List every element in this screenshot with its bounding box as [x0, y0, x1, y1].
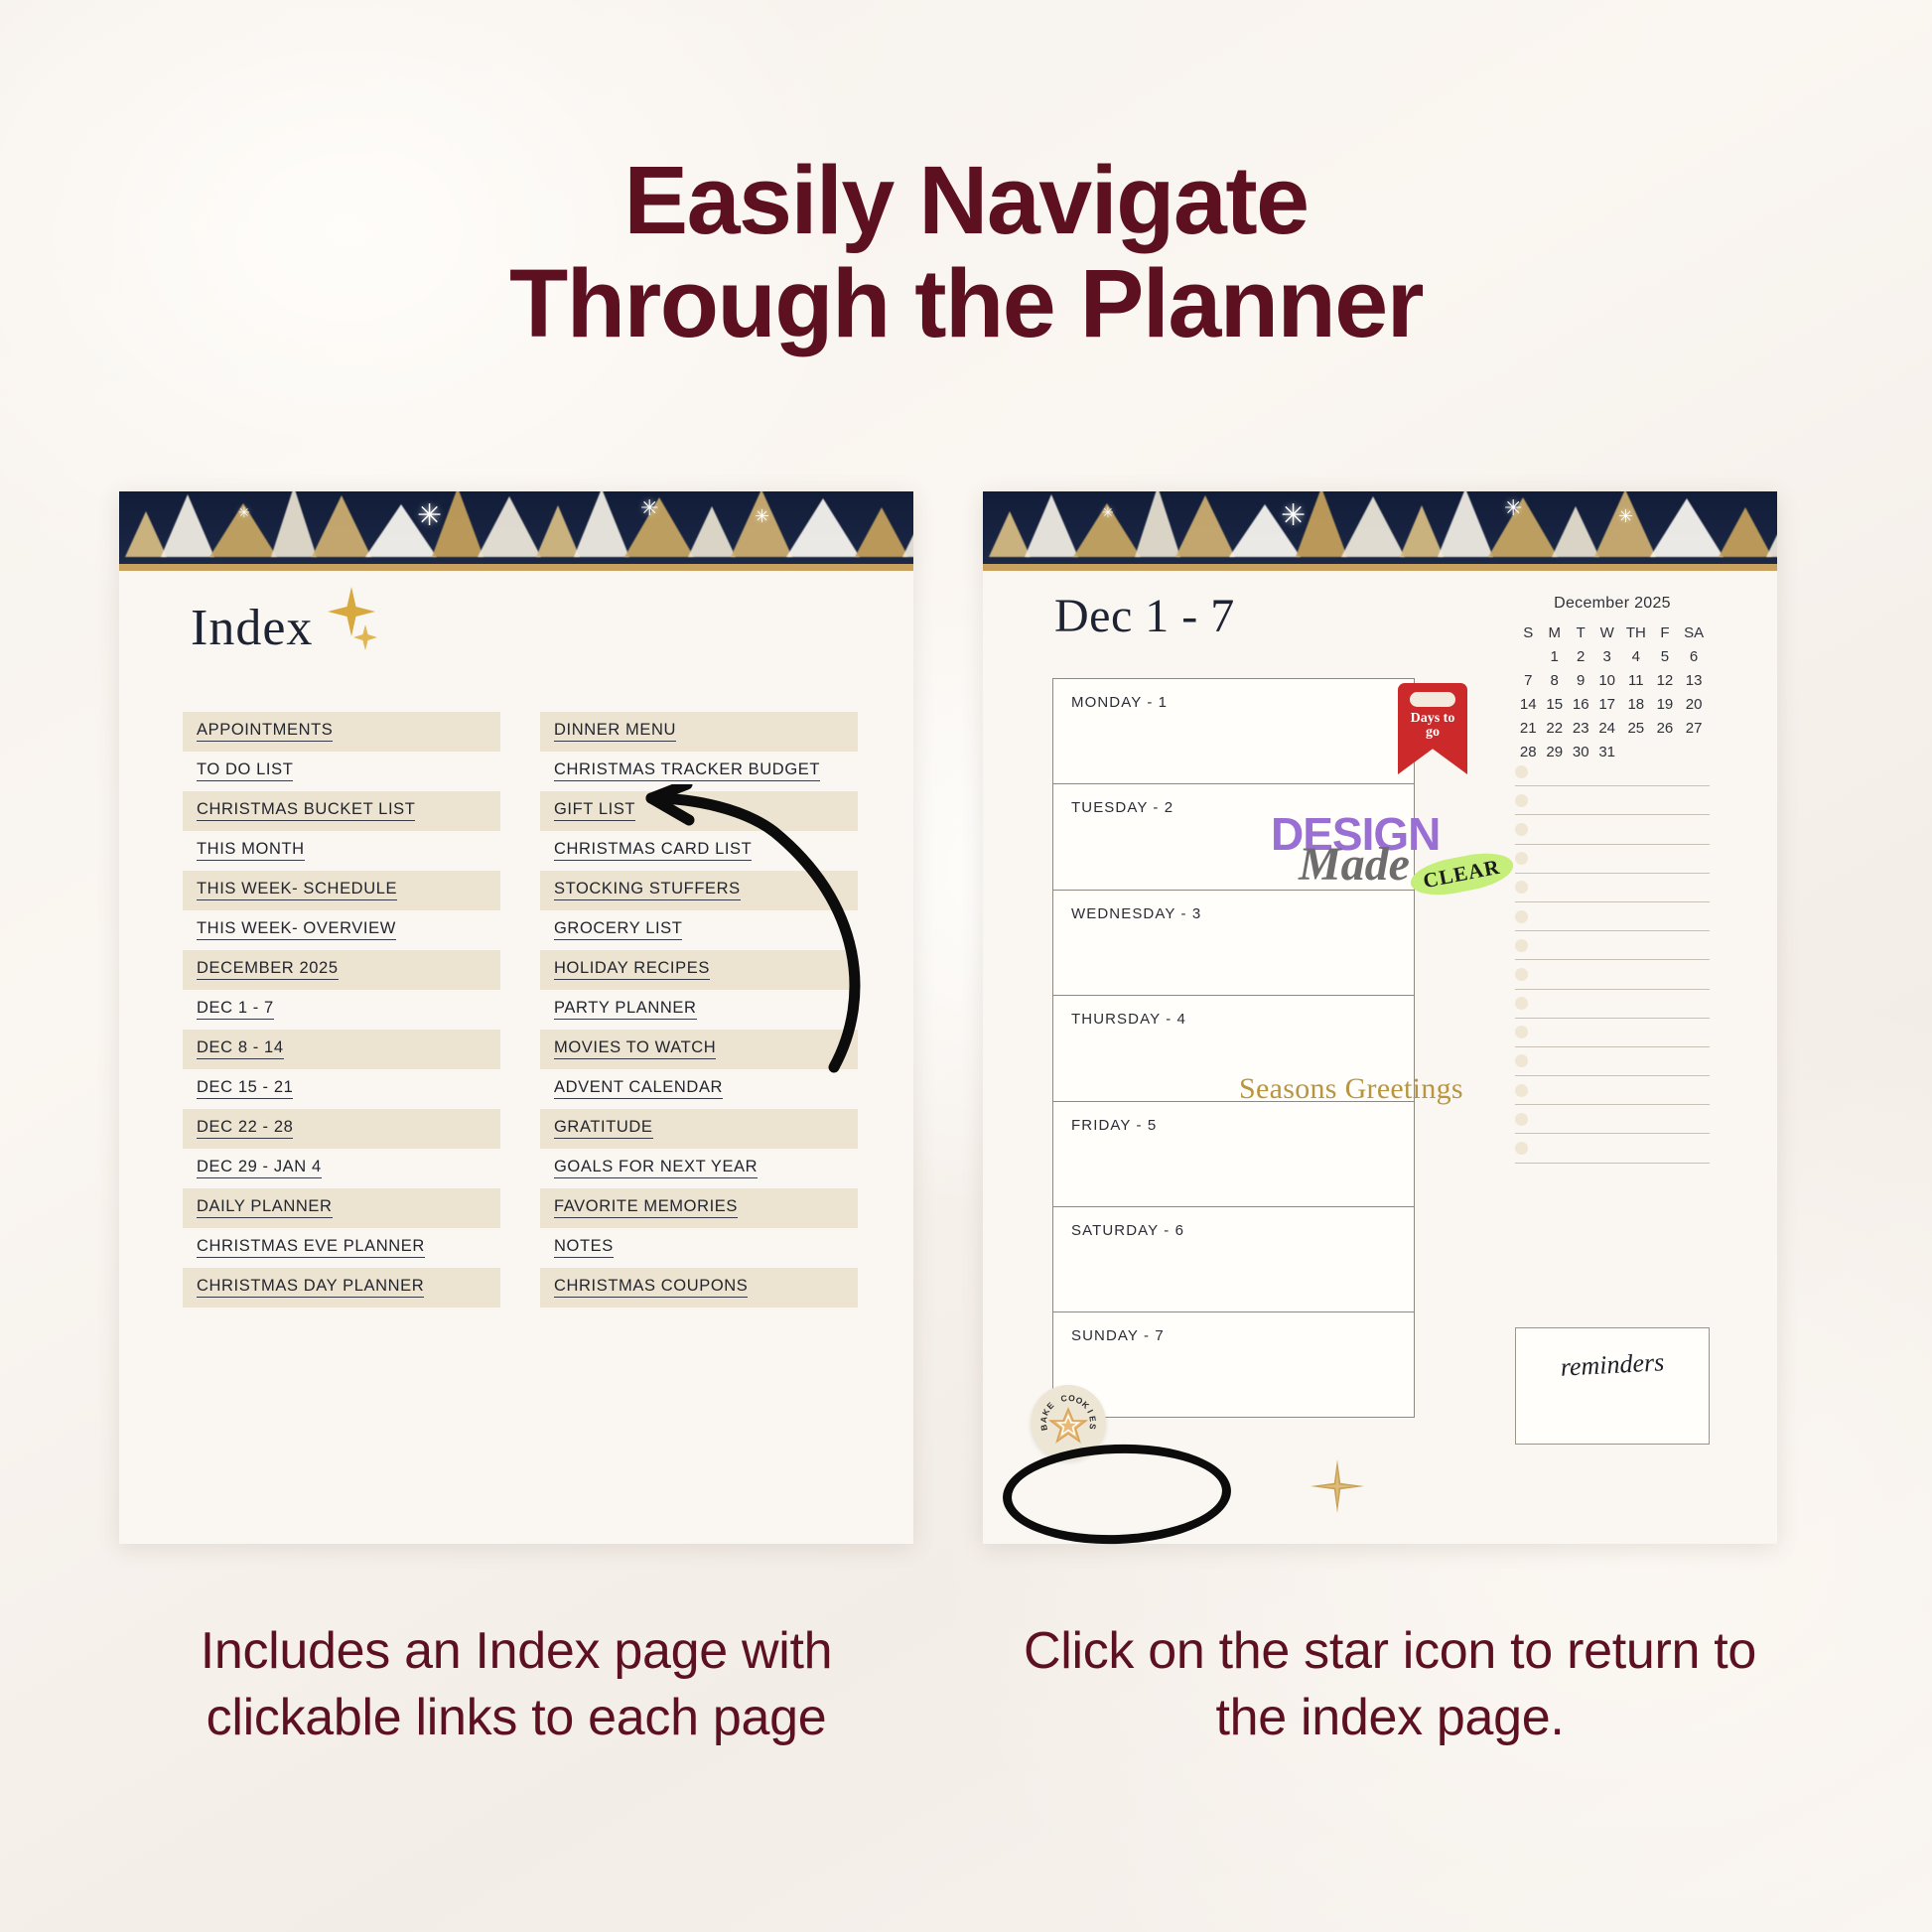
checklist-bullet-icon[interactable]	[1515, 794, 1528, 807]
index-link-item[interactable]: FAVORITE MEMORIES	[540, 1188, 858, 1228]
day-blocks[interactable]: MONDAY - 1TUESDAY - 2WEDNESDAY - 3THURSD…	[1052, 678, 1415, 1418]
mini-calendar-day[interactable]: 25	[1620, 716, 1652, 740]
mini-calendar-day[interactable]: 18	[1620, 692, 1652, 716]
reminders-box[interactable]: reminders	[1515, 1327, 1710, 1445]
index-link-label: THIS MONTH	[197, 841, 305, 861]
mini-calendar-day[interactable]: 14	[1515, 692, 1541, 716]
index-link-item[interactable]: GRATITUDE	[540, 1109, 858, 1149]
mini-calendar-day[interactable]: 5	[1652, 644, 1678, 668]
checklist-row[interactable]	[1515, 990, 1710, 1019]
headline-line-2: Through the Planner	[0, 252, 1932, 355]
index-link-item[interactable]: CHRISTMAS EVE PLANNER	[183, 1228, 500, 1268]
mini-calendar-table: SMTWTHFSA 123456789101112131415161718192…	[1515, 621, 1710, 763]
mini-calendar-week-row: 78910111213	[1515, 668, 1710, 692]
checklist-row[interactable]	[1515, 1047, 1710, 1076]
day-block[interactable]: SATURDAY - 6	[1053, 1207, 1414, 1312]
checklist-bullet-icon[interactable]	[1515, 968, 1528, 981]
christmas-tree-icon	[786, 498, 860, 557]
mini-calendar-day[interactable]: 3	[1593, 644, 1619, 668]
checklist-bullet-icon[interactable]	[1515, 852, 1528, 865]
days-to-go-ribbon: Days to go	[1398, 683, 1467, 774]
index-title-row: Index	[191, 599, 380, 657]
mini-calendar-header-row: SMTWTHFSA	[1515, 621, 1710, 644]
christmas-tree-icon	[161, 494, 214, 557]
day-block[interactable]: MONDAY - 1	[1053, 679, 1414, 784]
ribbon-line-1: Days to	[1398, 712, 1467, 726]
mini-calendar-week-row: 123456	[1515, 644, 1710, 668]
checklist-bullet-icon[interactable]	[1515, 910, 1528, 923]
mini-calendar-day[interactable]: 22	[1541, 716, 1567, 740]
index-link-item[interactable]: GOALS FOR NEXT YEAR	[540, 1149, 858, 1188]
mini-calendar-day[interactable]: 17	[1593, 692, 1619, 716]
index-link-label: DECEMBER 2025	[197, 960, 339, 980]
mini-calendar-day[interactable]: 20	[1678, 692, 1710, 716]
index-link-label: CHRISTMAS EVE PLANNER	[197, 1238, 425, 1258]
index-link-item[interactable]: CHRISTMAS BUCKET LIST	[183, 791, 500, 831]
index-link-item[interactable]: DEC 15 - 21	[183, 1069, 500, 1109]
seasons-greetings-text: Seasons Greetings	[1239, 1072, 1463, 1106]
snowflake-icon: ✳	[417, 501, 442, 531]
snowflake-icon: ✳	[755, 507, 769, 525]
index-link-label: APPOINTMENTS	[197, 722, 333, 742]
index-column-left: APPOINTMENTSTO DO LISTCHRISTMAS BUCKET L…	[183, 712, 500, 1308]
checklist-row[interactable]	[1515, 902, 1710, 931]
mini-calendar-day[interactable]: 26	[1652, 716, 1678, 740]
mini-calendar-day[interactable]: 24	[1593, 716, 1619, 740]
index-link-label: DAILY PLANNER	[197, 1198, 333, 1218]
index-link-item[interactable]: DINNER MENU	[540, 712, 858, 752]
index-link-label: DEC 8 - 14	[197, 1039, 284, 1059]
mini-calendar-day[interactable]: 10	[1593, 668, 1619, 692]
star-cookie-icon	[1048, 1406, 1088, 1446]
christmas-tree-banner-icon: ✳✳✳✳	[119, 491, 913, 571]
mini-calendar-title: December 2025	[1515, 595, 1710, 613]
index-link-item[interactable]: THIS WEEK- SCHEDULE	[183, 871, 500, 910]
sparkle-icon	[319, 585, 380, 650]
mini-calendar-day	[1515, 644, 1541, 668]
checklist-row[interactable]	[1515, 960, 1710, 989]
mini-calendar-weekday: W	[1593, 621, 1619, 644]
checklist-row[interactable]	[1515, 931, 1710, 960]
christmas-tree-icon	[624, 497, 694, 557]
checklist-bullet-icon[interactable]	[1515, 1054, 1528, 1067]
ribbon-line-2: go	[1398, 726, 1467, 740]
checklist[interactable]	[1515, 758, 1710, 1164]
checklist-row[interactable]	[1515, 1105, 1710, 1134]
christmas-tree-icon	[1341, 496, 1405, 557]
mini-calendar-weekday: F	[1652, 621, 1678, 644]
index-link-item[interactable]: CHRISTMAS COUPONS	[540, 1268, 858, 1308]
weekly-planner-page[interactable]: ✳✳✳✳ Dec 1 - 7 MONDAY - 1TUESDAY - 2WEDN…	[983, 491, 1777, 1544]
ribbon-label: Days to go	[1398, 712, 1467, 741]
index-link-label: DINNER MENU	[554, 722, 676, 742]
index-link-label: GIFT LIST	[554, 801, 635, 821]
checklist-row[interactable]	[1515, 758, 1710, 786]
index-link-item[interactable]: DECEMBER 2025	[183, 950, 500, 990]
mini-calendar-day[interactable]: 2	[1568, 644, 1593, 668]
snowflake-icon: ✳	[640, 497, 658, 519]
checklist-bullet-icon[interactable]	[1515, 1113, 1528, 1126]
mini-calendar-week-row: 21222324252627	[1515, 716, 1710, 740]
checklist-bullet-icon[interactable]	[1515, 765, 1528, 778]
reminders-label: reminders	[1560, 1347, 1665, 1382]
checklist-bullet-icon[interactable]	[1515, 823, 1528, 836]
checklist-bullet-icon[interactable]	[1515, 939, 1528, 952]
index-link-item[interactable]: TO DO LIST	[183, 752, 500, 791]
curved-arrow-annotation	[625, 784, 884, 1082]
christmas-tree-icon	[902, 491, 913, 557]
checklist-row[interactable]	[1515, 874, 1710, 902]
mini-calendar: December 2025 SMTWTHFSA 1234567891011121…	[1515, 595, 1710, 763]
index-link-label: GOALS FOR NEXT YEAR	[554, 1159, 758, 1178]
index-link-item[interactable]: DEC 1 - 7	[183, 990, 500, 1030]
snowflake-icon: ✳	[238, 505, 250, 519]
christmas-tree-icon	[1488, 497, 1558, 557]
christmas-tree-icon	[688, 506, 736, 557]
christmas-tree-icon	[1025, 494, 1078, 557]
index-link-label: CHRISTMAS COUPONS	[554, 1278, 748, 1298]
checklist-row[interactable]	[1515, 1134, 1710, 1163]
mini-calendar-body: 1234567891011121314151617181920212223242…	[1515, 644, 1710, 763]
day-block[interactable]: SUNDAY - 7	[1053, 1312, 1414, 1418]
index-link-label: DEC 15 - 21	[197, 1079, 293, 1099]
christmas-tree-icon	[1719, 507, 1772, 557]
mini-calendar-day[interactable]: 11	[1620, 668, 1652, 692]
checklist-row[interactable]	[1515, 845, 1710, 874]
christmas-tree-icon	[574, 491, 629, 557]
index-link-item[interactable]: DAILY PLANNER	[183, 1188, 500, 1228]
index-link-label: ADVENT CALENDAR	[554, 1079, 723, 1099]
mini-calendar-day[interactable]: 7	[1515, 668, 1541, 692]
mini-calendar-week-row: 14151617181920	[1515, 692, 1710, 716]
christmas-tree-icon	[855, 507, 908, 557]
index-link-item[interactable]: THIS WEEK- OVERVIEW	[183, 910, 500, 950]
mini-calendar-day[interactable]: 21	[1515, 716, 1541, 740]
checklist-bullet-icon[interactable]	[1515, 1026, 1528, 1038]
mini-calendar-day[interactable]: 6	[1678, 644, 1710, 668]
mini-calendar-day[interactable]: 9	[1568, 668, 1593, 692]
mini-calendar-day[interactable]: 12	[1652, 668, 1678, 692]
checklist-row[interactable]	[1515, 1076, 1710, 1105]
christmas-tree-banner-icon: ✳✳✳✳	[983, 491, 1777, 571]
christmas-tree-icon	[1175, 495, 1235, 557]
mini-calendar-weekday: M	[1541, 621, 1567, 644]
caption-left: Includes an Index page with clickable li…	[99, 1618, 933, 1750]
star-icon[interactable]	[1311, 1459, 1364, 1513]
index-link-label: DEC 22 - 28	[197, 1119, 293, 1139]
mini-calendar-weekday: SA	[1678, 621, 1710, 644]
index-link-label: TO DO LIST	[197, 761, 293, 781]
page-title: Easily Navigate Through the Planner	[0, 149, 1932, 355]
christmas-tree-icon	[1766, 491, 1777, 557]
index-link-label: NOTES	[554, 1238, 614, 1258]
index-link-item[interactable]: NOTES	[540, 1228, 858, 1268]
checklist-row[interactable]	[1515, 1019, 1710, 1047]
index-link-item[interactable]: CHRISTMAS DAY PLANNER	[183, 1268, 500, 1308]
day-block[interactable]: WEDNESDAY - 3	[1053, 891, 1414, 996]
checklist-bullet-icon[interactable]	[1515, 1142, 1528, 1155]
index-link-label: THIS WEEK- OVERVIEW	[197, 920, 396, 940]
caption-right: Click on the star icon to return to the …	[993, 1618, 1787, 1750]
christmas-tree-icon	[1438, 491, 1493, 557]
headline-line-1: Easily Navigate	[623, 146, 1308, 254]
christmas-tree-icon	[1650, 498, 1724, 557]
index-link-label: CHRISTMAS DAY PLANNER	[197, 1278, 424, 1298]
mini-calendar-day[interactable]: 27	[1678, 716, 1710, 740]
index-title: Index	[191, 599, 313, 657]
checklist-bullet-icon[interactable]	[1515, 997, 1528, 1010]
snowflake-icon: ✳	[1102, 505, 1114, 519]
mini-calendar-day[interactable]: 13	[1678, 668, 1710, 692]
watermark-made: Made	[1299, 837, 1410, 892]
christmas-tree-icon	[1552, 506, 1599, 557]
index-link-label: CHRISTMAS TRACKER BUDGET	[554, 761, 820, 781]
mini-calendar-day[interactable]: 19	[1652, 692, 1678, 716]
ribbon-notch	[1410, 692, 1455, 707]
watermark: DESIGN Made CLEAR	[1271, 807, 1484, 897]
mini-calendar-day[interactable]: 1	[1541, 644, 1567, 668]
mini-calendar-day[interactable]: 23	[1568, 716, 1593, 740]
christmas-tree-icon	[478, 496, 541, 557]
index-link-label: GRATITUDE	[554, 1119, 653, 1139]
index-link-label: THIS WEEK- SCHEDULE	[197, 881, 397, 900]
mini-calendar-day[interactable]: 8	[1541, 668, 1567, 692]
index-link-item[interactable]: DEC 29 - JAN 4	[183, 1149, 500, 1188]
index-link-label: CHRISTMAS BUCKET LIST	[197, 801, 415, 821]
mini-calendar-day[interactable]: 15	[1541, 692, 1567, 716]
index-link-label: FAVORITE MEMORIES	[554, 1198, 738, 1218]
day-block[interactable]: FRIDAY - 5	[1053, 1102, 1414, 1207]
snowflake-icon: ✳	[1618, 507, 1633, 525]
checklist-row[interactable]	[1515, 815, 1710, 844]
christmas-tree-icon	[271, 491, 317, 557]
index-link-label: DEC 29 - JAN 4	[197, 1159, 322, 1178]
index-link-item[interactable]: DEC 8 - 14	[183, 1030, 500, 1069]
mini-calendar-weekday: S	[1515, 621, 1541, 644]
index-link-label: DEC 1 - 7	[197, 1000, 274, 1020]
christmas-tree-icon	[312, 495, 371, 557]
mini-calendar-weekday: T	[1568, 621, 1593, 644]
christmas-tree-icon	[1135, 491, 1180, 557]
mini-calendar-day[interactable]: 16	[1568, 692, 1593, 716]
index-link-item[interactable]: APPOINTMENTS	[183, 712, 500, 752]
snowflake-icon: ✳	[1281, 501, 1306, 531]
week-title: Dec 1 - 7	[1054, 589, 1235, 643]
index-link-item[interactable]: DEC 22 - 28	[183, 1109, 500, 1149]
checklist-row[interactable]	[1515, 786, 1710, 815]
index-link-item[interactable]: THIS MONTH	[183, 831, 500, 871]
snowflake-icon: ✳	[1504, 497, 1522, 519]
mini-calendar-weekday: TH	[1620, 621, 1652, 644]
mini-calendar-day[interactable]: 4	[1620, 644, 1652, 668]
checklist-bullet-icon[interactable]	[1515, 1084, 1528, 1097]
checklist-bullet-icon[interactable]	[1515, 881, 1528, 894]
